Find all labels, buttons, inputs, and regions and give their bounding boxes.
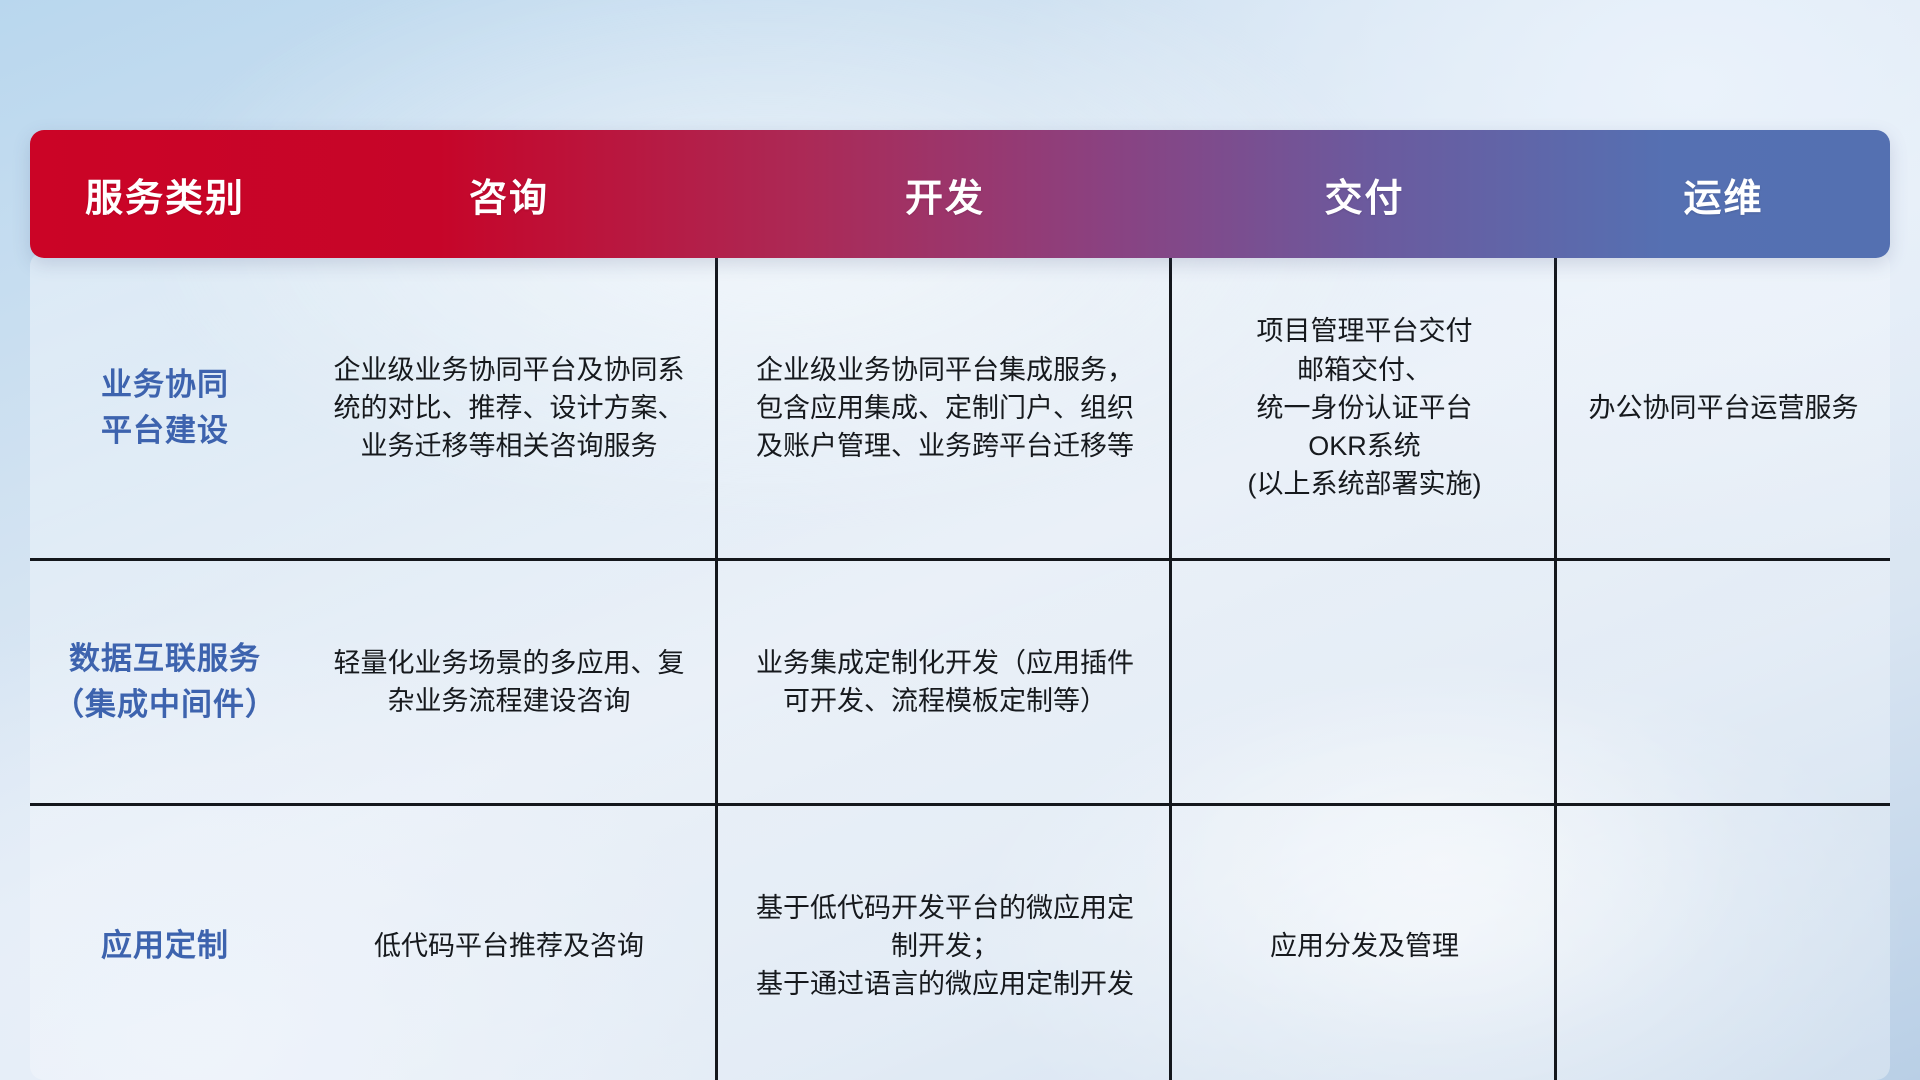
table-body: 业务协同 平台建设 企业级业务协同平台及协同系 统的对比、推荐、设计方案、 业务…: [30, 258, 1890, 1080]
cell-consulting: 轻量化业务场景的多应用、复 杂业务流程建设咨询: [300, 561, 718, 803]
table-row: 业务协同 平台建设 企业级业务协同平台及协同系 统的对比、推荐、设计方案、 业务…: [30, 258, 1890, 558]
cell-development: 基于低代码开发平台的微应用定 制开发； 基于通过语言的微应用定制开发: [718, 806, 1172, 1080]
row-category-label: 业务协同 平台建设: [30, 258, 300, 558]
cell-delivery: [1172, 561, 1557, 803]
cell-operations: [1557, 561, 1890, 803]
column-header-consulting: 咨询: [300, 130, 718, 258]
table-row: 数据互联服务 （集成中间件） 轻量化业务场景的多应用、复 杂业务流程建设咨询 业…: [30, 558, 1890, 803]
service-matrix-table: 服务类别 咨询 开发 交付 运维 业务协同 平台建设 企业级业务协同平台及协同系…: [30, 130, 1890, 960]
column-header-service-category: 服务类别: [30, 130, 300, 258]
row-category-label: 数据互联服务 （集成中间件）: [30, 561, 300, 803]
cell-development: 业务集成定制化开发（应用插件 可开发、流程模板定制等）: [718, 561, 1172, 803]
column-header-operations: 运维: [1557, 130, 1890, 258]
column-header-development: 开发: [718, 130, 1172, 258]
cell-delivery: 项目管理平台交付 邮箱交付、 统一身份认证平台 OKR系统 (以上系统部署实施): [1172, 258, 1557, 558]
column-header-delivery: 交付: [1172, 130, 1557, 258]
cell-operations: 办公协同平台运营服务: [1557, 258, 1890, 558]
cell-consulting: 低代码平台推荐及咨询: [300, 806, 718, 1080]
cell-operations: [1557, 806, 1890, 1080]
table-header-row: 服务类别 咨询 开发 交付 运维: [30, 130, 1890, 258]
cell-consulting: 企业级业务协同平台及协同系 统的对比、推荐、设计方案、 业务迁移等相关咨询服务: [300, 258, 718, 558]
table-row: 应用定制 低代码平台推荐及咨询 基于低代码开发平台的微应用定 制开发； 基于通过…: [30, 803, 1890, 1080]
cell-delivery: 应用分发及管理: [1172, 806, 1557, 1080]
row-category-label: 应用定制: [30, 806, 300, 1080]
cell-development: 企业级业务协同平台集成服务， 包含应用集成、定制门户、组织 及账户管理、业务跨平…: [718, 258, 1172, 558]
